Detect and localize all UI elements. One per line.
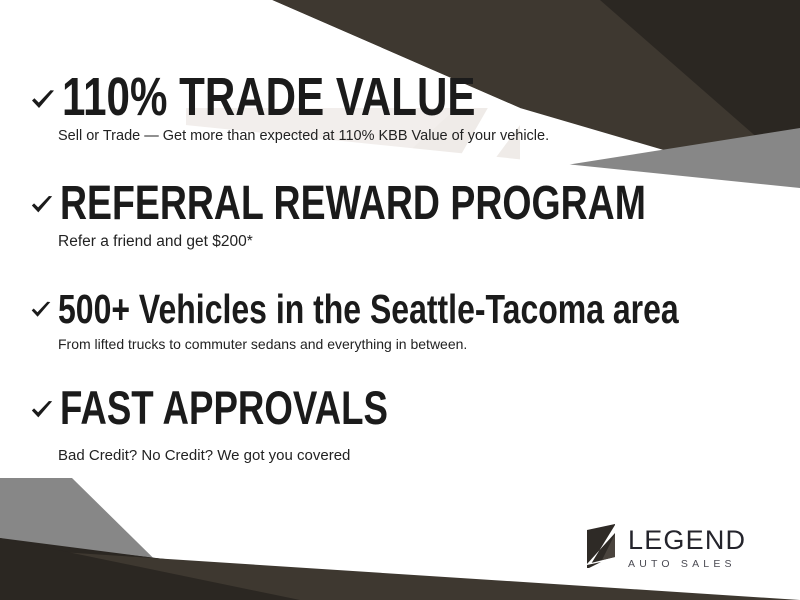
logo-tagline: AUTO SALES	[628, 559, 746, 570]
feature-subtext: Refer a friend and get $200*	[58, 233, 780, 251]
feature-headline-row: 500+ Vehicles in the Seattle-Tacoma area	[30, 290, 780, 329]
feature-item: 500+ Vehicles in the Seattle-Tacoma area…	[30, 290, 780, 352]
feature-item: REFERRAL REWARD PROGRAM Refer a friend a…	[30, 181, 780, 251]
logo-name: LEGEND	[628, 527, 746, 554]
check-icon	[30, 87, 56, 116]
feature-headline: 110% TRADE VALUE	[62, 72, 476, 123]
feature-subtext: From lifted trucks to commuter sedans an…	[58, 336, 780, 352]
feature-headline: 500+ Vehicles in the Seattle-Tacoma area	[58, 290, 679, 329]
feature-headline-row: FAST APPROVALS	[30, 386, 780, 431]
feature-headline-row: 110% TRADE VALUE	[30, 72, 780, 123]
check-icon	[30, 398, 54, 425]
feature-headline-row: REFERRAL REWARD PROGRAM	[30, 181, 780, 227]
feature-item: FAST APPROVALS Bad Credit? No Credit? We…	[30, 386, 780, 464]
feature-headline: REFERRAL REWARD PROGRAM	[60, 181, 646, 227]
feature-subtext: Sell or Trade — Get more than expected a…	[58, 128, 780, 144]
feature-subtext: Bad Credit? No Credit? We got you covere…	[58, 447, 780, 464]
legend-auto-sales-logo: LEGEND AUTO SALES	[585, 524, 746, 573]
logo-wordmark: LEGEND AUTO SALES	[628, 527, 746, 570]
check-icon	[30, 193, 54, 220]
feature-list: 110% TRADE VALUE Sell or Trade — Get mor…	[0, 0, 800, 600]
feature-item: 110% TRADE VALUE Sell or Trade — Get mor…	[30, 72, 780, 144]
legend-chevron-mark-icon	[585, 524, 619, 573]
promo-banner: 110% TRADE VALUE Sell or Trade — Get mor…	[0, 0, 800, 600]
feature-headline: FAST APPROVALS	[60, 386, 388, 431]
check-icon	[30, 299, 52, 324]
